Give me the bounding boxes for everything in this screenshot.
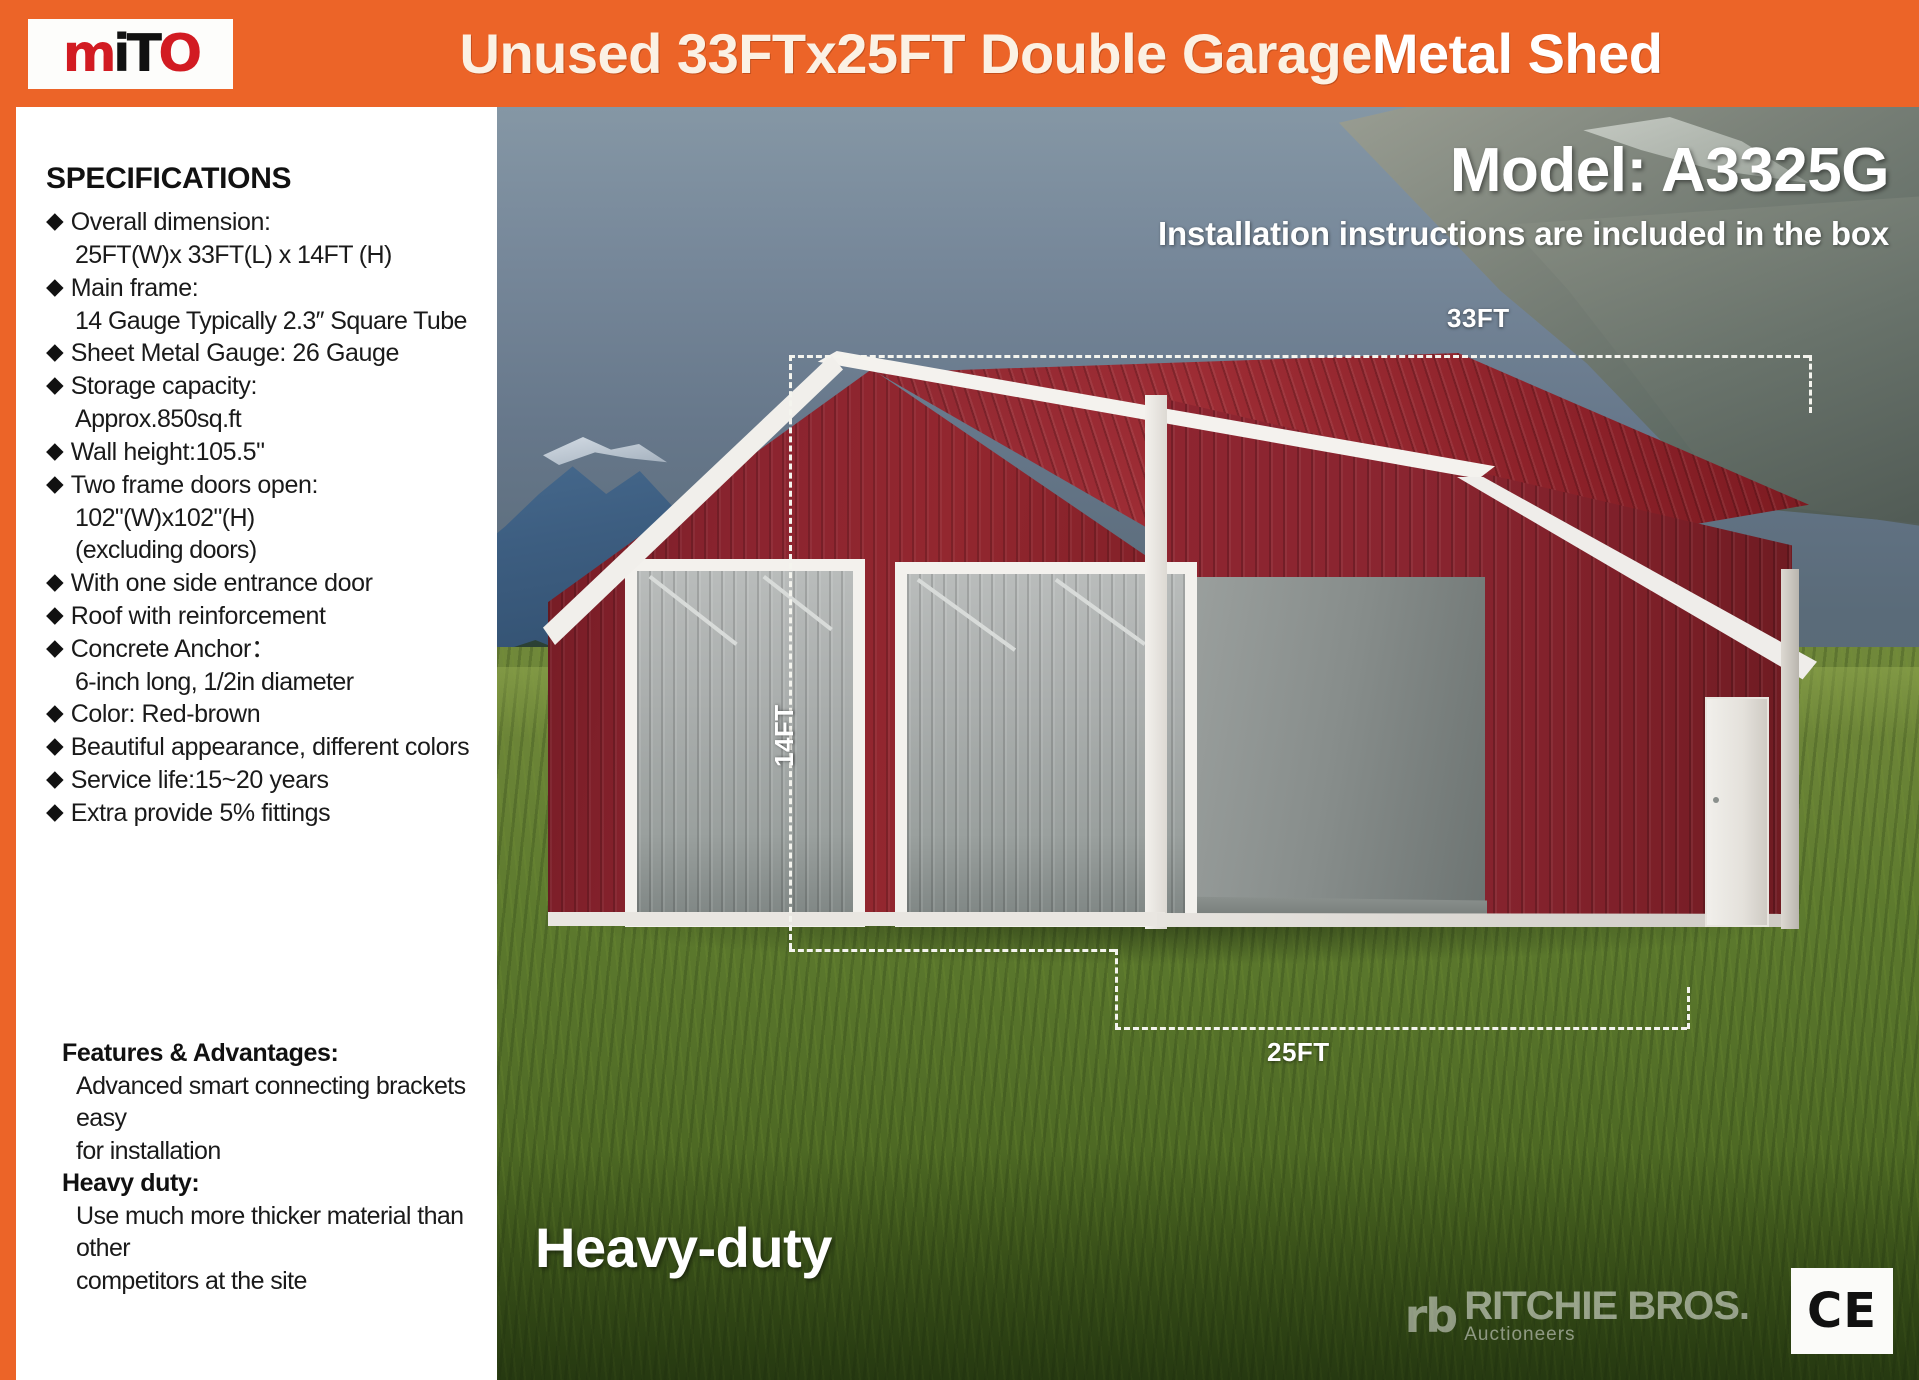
model-number: Model: A3325G (1450, 135, 1889, 206)
spec-list-item: ◆ Extra provide 5% fittings (46, 797, 483, 829)
header-bar: miTO Unused 33FTx25FT Double GarageMetal… (0, 0, 1919, 107)
spec-label: Roof with reinforcement (71, 600, 326, 632)
spec-list-item: ◆ Main frame: 14 Gauge Typically 2.3″ Sq… (46, 272, 483, 338)
heavy-duty-caption: Heavy-duty (535, 1215, 832, 1280)
garage-door-2-opening (907, 574, 1185, 921)
spec-value: 102"(W)x102"(H) (46, 502, 483, 535)
diamond-bullet-icon: ◆ (46, 764, 64, 793)
title-part-2: Metal Shed (1372, 22, 1663, 85)
product-photo: 33FT 25FT 14FT Model: A3325G Installatio… (497, 107, 1919, 1380)
side-entrance-door (1705, 697, 1769, 927)
spec-label: Concrete Anchor： (71, 633, 276, 665)
spec-label: Service life:15~20 years (71, 764, 329, 796)
mito-logo: miTO (28, 19, 233, 89)
spec-list-item: ◆ Concrete Anchor： 6-inch long, 1/2in di… (46, 633, 483, 699)
dimension-line-top-right-drop (1809, 355, 1812, 413)
spec-label: Beautiful appearance, different colors (71, 731, 470, 763)
logo-letter-i: i (113, 28, 127, 80)
dimension-line-bottom-right-riser (1687, 987, 1690, 1029)
spec-value-extra: (excluding doors) (46, 534, 483, 567)
spec-list-item: ◆ Overall dimension: 25FT(W)x 33FT(L) x … (46, 206, 483, 272)
spec-label: Sheet Metal Gauge: 26 Gauge (71, 337, 399, 369)
brace-icon (649, 575, 738, 646)
brace-icon (917, 578, 1016, 652)
ce-mark: CE (1791, 1268, 1893, 1354)
diamond-bullet-icon: ◆ (46, 633, 64, 662)
spec-label: Color: Red-brown (71, 698, 261, 730)
watermark-main-text: RITCHIE BROS. (1464, 1287, 1749, 1325)
spec-label: Extra provide 5% fittings (71, 797, 331, 829)
features-advantages-block: Features & Advantages: Advanced smart co… (62, 1037, 502, 1297)
diamond-bullet-icon: ◆ (46, 272, 64, 301)
spec-list-item: ◆ Beautiful appearance, different colors (46, 731, 483, 763)
brace-icon (1055, 578, 1146, 646)
heavy-duty-text-line-2: competitors at the site (62, 1265, 502, 1298)
dimension-line-left-vertical (789, 355, 792, 949)
features-text-line-2: for installation (62, 1135, 502, 1168)
spec-list-item: ◆ Roof with reinforcement (46, 600, 483, 632)
spec-label: Main frame: (71, 272, 199, 304)
features-heading: Features & Advantages: (62, 1037, 502, 1070)
spec-list-item: ◆ Service life:15~20 years (46, 764, 483, 796)
spec-list-item: ◆ Storage capacity: Approx.850sq.ft (46, 370, 483, 436)
right-corner-trim (1781, 569, 1799, 929)
door-handle-icon (1713, 797, 1719, 803)
diamond-bullet-icon: ◆ (46, 370, 64, 399)
dimension-line-bottom-riser (1115, 949, 1118, 1029)
dimension-line-bottom (1115, 1027, 1687, 1030)
diamond-bullet-icon: ◆ (46, 797, 64, 826)
brace-icon (763, 575, 833, 631)
diamond-bullet-icon: ◆ (46, 600, 64, 629)
heavy-duty-heading: Heavy duty: (62, 1167, 502, 1200)
heavy-duty-text-line-1: Use much more thicker material than othe… (62, 1200, 502, 1265)
diamond-bullet-icon: ◆ (46, 698, 64, 727)
spec-label: Two frame doors open: (71, 469, 318, 501)
spec-list-item: ◆ Sheet Metal Gauge: 26 Gauge (46, 337, 483, 369)
features-text-line-1: Advanced smart connecting brackets easy (62, 1070, 502, 1135)
watermark-name: RITCHIE BROS. Auctioneers (1464, 1287, 1749, 1344)
title-part-1: Unused 33FTx25FT Double Garage (460, 22, 1372, 85)
spec-value: Approx.850sq.ft (46, 403, 483, 436)
specifications-heading: SPECIFICATIONS (46, 162, 483, 196)
spec-list-item: ◆ Two frame doors open: 102"(W)x102"(H) … (46, 469, 483, 567)
installation-note: Installation instructions are included i… (1158, 215, 1889, 253)
dimension-line-bottom-left (789, 949, 1115, 952)
side-base-trim (1157, 913, 1793, 927)
dimension-line-top (789, 355, 1809, 358)
logo-letter-o: O (158, 28, 198, 80)
spec-label: With one side entrance door (71, 567, 373, 599)
interior-back-wall (1185, 577, 1485, 923)
diamond-bullet-icon: ◆ (46, 567, 64, 596)
rb-logo-icon: rb (1405, 1289, 1457, 1343)
garage-door-1-opening (637, 571, 853, 921)
metal-shed-building (497, 107, 1919, 1380)
diamond-bullet-icon: ◆ (46, 206, 64, 235)
spec-label: Storage capacity: (71, 370, 257, 402)
spec-list-item: ◆ Wall height:105.5" (46, 436, 483, 468)
logo-wordmark: miTO (63, 28, 199, 80)
logo-letter-m: m (63, 28, 113, 80)
diamond-bullet-icon: ◆ (46, 436, 64, 465)
diamond-bullet-icon: ◆ (46, 469, 64, 498)
spec-list-item: ◆ With one side entrance door (46, 567, 483, 599)
front-base-trim (548, 912, 1165, 926)
diamond-bullet-icon: ◆ (46, 731, 64, 760)
product-spec-sheet: miTO Unused 33FTx25FT Double GarageMetal… (0, 0, 1919, 1380)
spec-value: 25FT(W)x 33FT(L) x 14FT (H) (46, 239, 483, 272)
diamond-bullet-icon: ◆ (46, 337, 64, 366)
logo-letter-t: T (127, 28, 158, 80)
spec-label: Wall height:105.5" (71, 436, 265, 468)
ritchie-bros-watermark: rb RITCHIE BROS. Auctioneers (1405, 1287, 1749, 1344)
spec-list-item: ◆ Color: Red-brown (46, 698, 483, 730)
page-title: Unused 33FTx25FT Double GarageMetal Shed (233, 21, 1919, 86)
dimension-label-width: 25FT (1267, 1037, 1330, 1068)
dimension-label-height: 14FT (769, 704, 800, 767)
spec-value: 6-inch long, 1/2in diameter (46, 666, 483, 699)
specifications-panel: SPECIFICATIONS ◆ Overall dimension: 25FT… (0, 107, 497, 1380)
corner-trim (1145, 395, 1167, 929)
ce-mark-text: CE (1807, 1283, 1877, 1339)
specifications-list: ◆ Overall dimension: 25FT(W)x 33FT(L) x … (46, 206, 483, 829)
spec-value: 14 Gauge Typically 2.3″ Square Tube (46, 305, 483, 338)
dimension-label-length: 33FT (1447, 303, 1510, 334)
spec-label: Overall dimension: (71, 206, 271, 238)
